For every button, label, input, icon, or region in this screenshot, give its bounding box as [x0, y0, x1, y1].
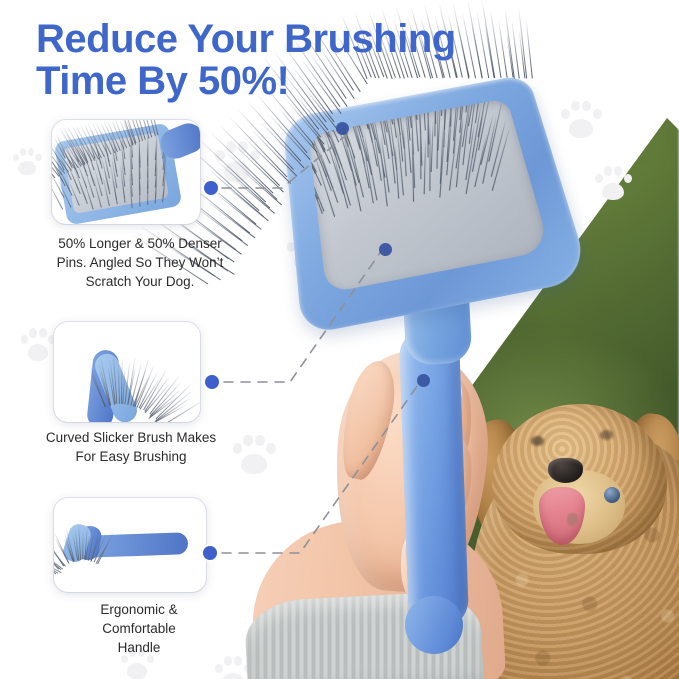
- infographic-canvas: Reduce Your Brushing Time By 50%! 50% Lo…: [0, 0, 679, 679]
- feature-caption-handle: Ergonomic & Comfortable Handle: [46, 600, 232, 657]
- thumb-pins: [54, 322, 200, 422]
- brush-handle-tip: [405, 596, 463, 654]
- connector-dot-pins[interactable]: [204, 181, 218, 195]
- feature-caption-curved-head: Curved Slicker Brush Makes For Easy Brus…: [14, 428, 248, 466]
- thumb-pins: [54, 498, 206, 592]
- connector-dot-handle[interactable]: [203, 546, 217, 560]
- brush-handle: [399, 329, 469, 631]
- connector-dot-curved-head[interactable]: [205, 375, 219, 389]
- anchor-dot-handle: [417, 374, 430, 387]
- feature-thumbnail-pins[interactable]: [52, 120, 200, 224]
- feature-caption-pins: 50% Longer & 50% Denser Pins. Angled So …: [22, 234, 258, 291]
- feature-thumbnail-curved-head[interactable]: [54, 322, 200, 422]
- feature-thumbnail-handle[interactable]: [54, 498, 206, 592]
- anchor-dot-curved-head: [379, 243, 392, 256]
- page-title: Reduce Your Brushing Time By 50%!: [36, 18, 556, 102]
- anchor-dot-pins: [336, 122, 349, 135]
